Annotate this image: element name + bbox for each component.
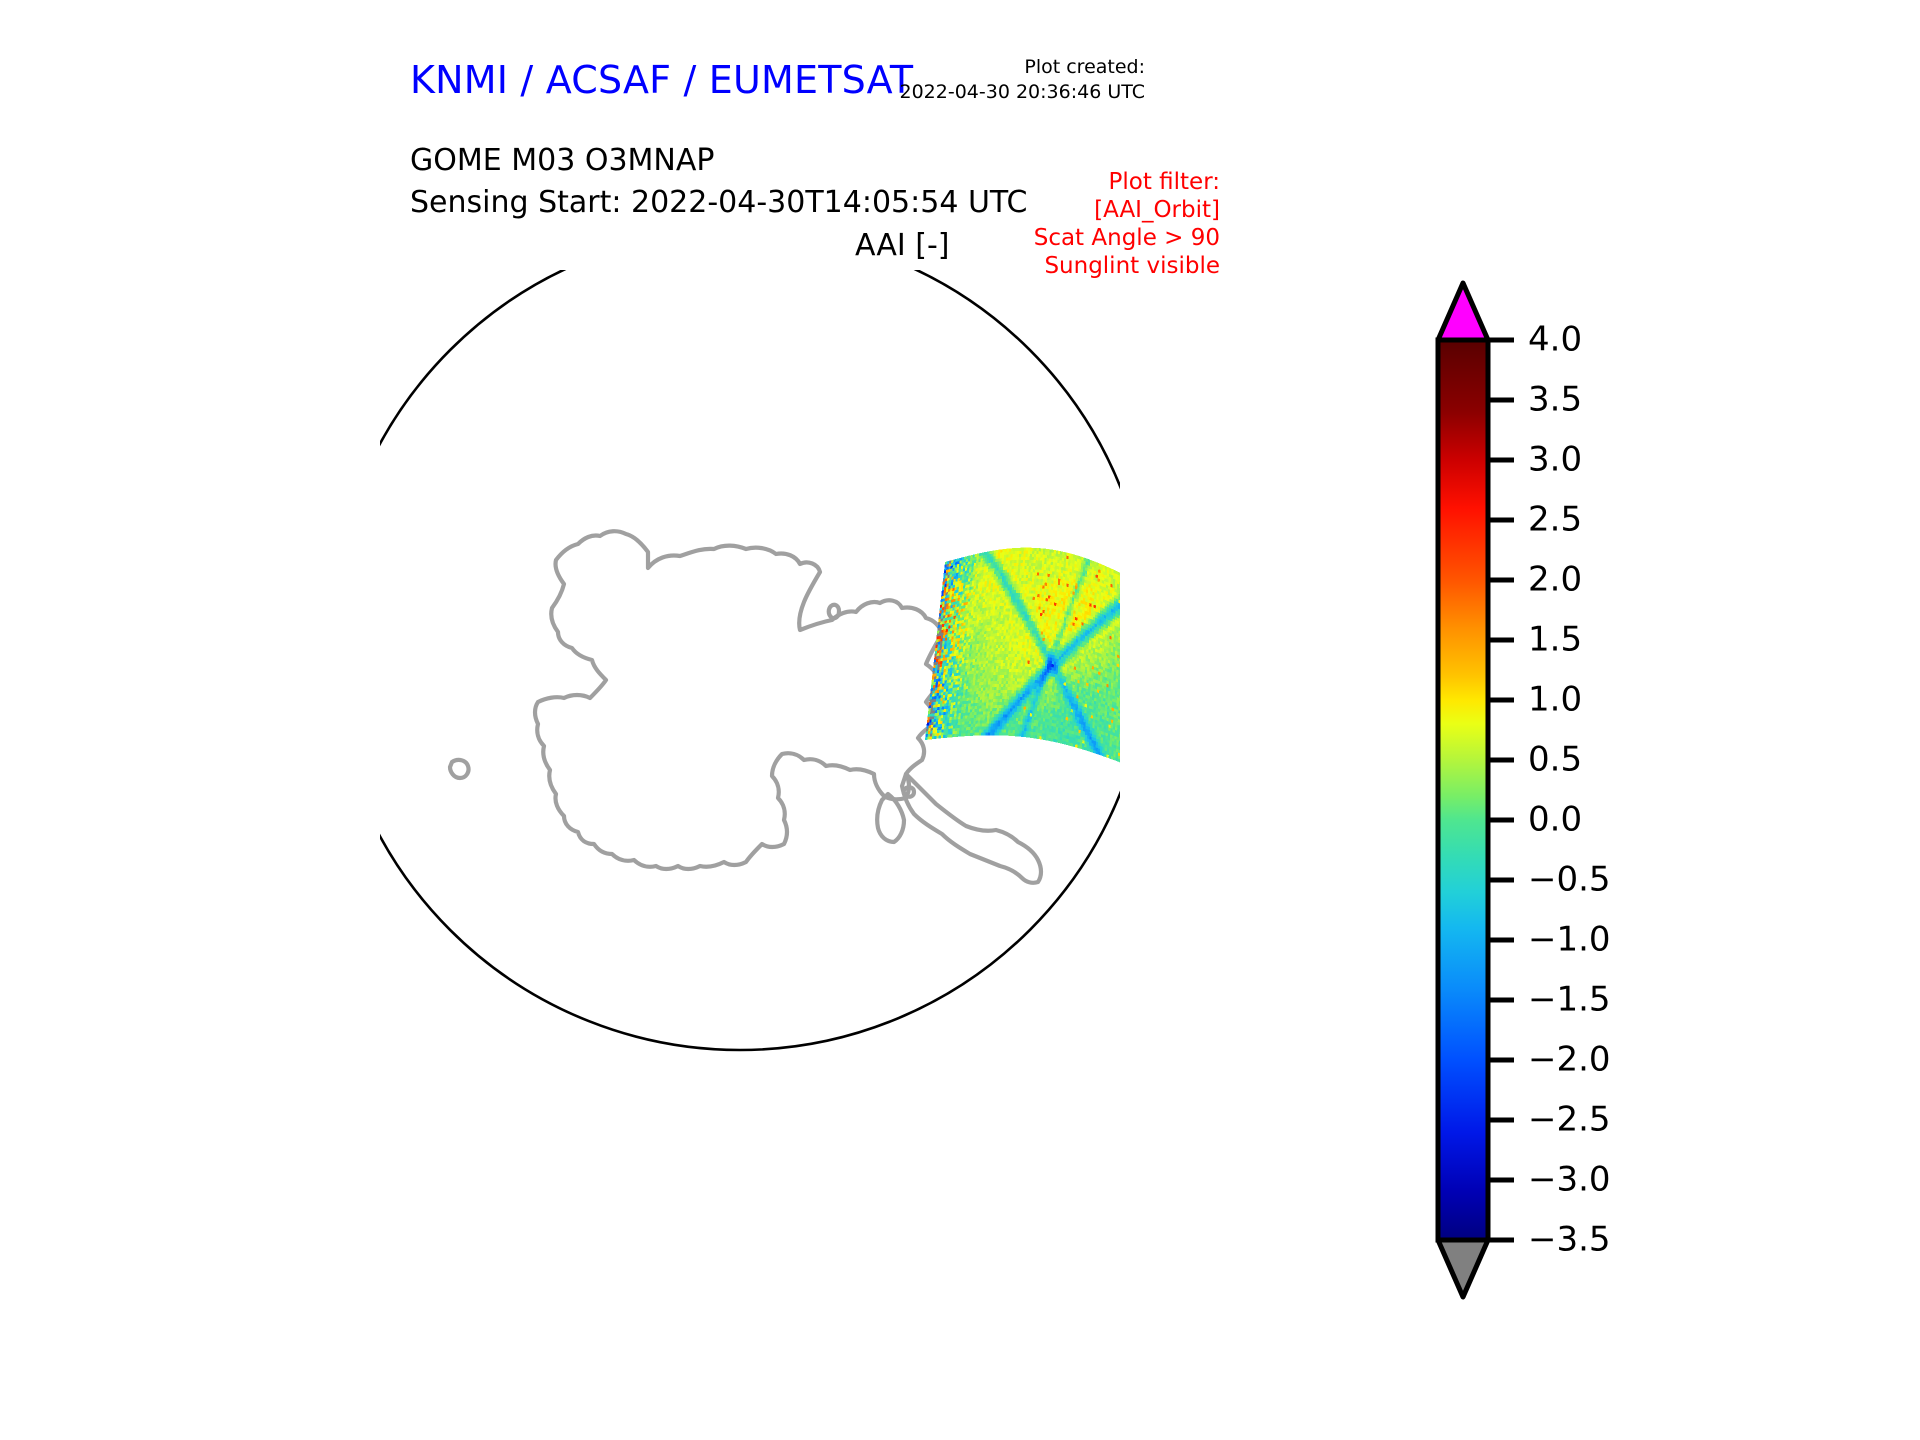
sensing-start: Sensing Start: 2022-04-30T14:05:54 UTC — [410, 182, 1027, 224]
colorbar-ticks-group: 4.03.53.02.52.01.51.00.50.0−0.5−1.0−1.5−… — [1488, 320, 1611, 1260]
colorbar-tick-label: 1.0 — [1528, 680, 1582, 720]
colorbar-tick-label: −1.0 — [1528, 920, 1611, 960]
colorbar-tick-label: 3.5 — [1528, 380, 1582, 420]
plot-created-block: Plot created: 2022-04-30 20:36:46 UTC — [900, 55, 1146, 105]
plot-filter-name: [AAI_Orbit] — [1034, 196, 1220, 224]
colorbar-panel[interactable]: 4.03.53.02.52.01.51.00.50.0−0.5−1.0−1.5−… — [1430, 275, 1860, 1345]
coastline-tasmania — [501, 270, 550, 273]
colorbar-tick-label: 4.0 — [1528, 320, 1582, 360]
colorbar-tick-label: 1.5 — [1528, 620, 1582, 660]
colorbar-tick-label: 3.0 — [1528, 440, 1582, 480]
colorbar-svg: 4.03.53.02.52.01.51.00.50.0−0.5−1.0−1.5−… — [1430, 275, 1860, 1345]
plot-filter-label: Plot filter: — [1034, 168, 1220, 196]
map-panel[interactable] — [380, 270, 1120, 1270]
organisation-title: KNMI / ACSAF / EUMETSAT — [410, 58, 913, 102]
product-info-block: GOME M03 O3MNAP Sensing Start: 2022-04-3… — [410, 140, 1027, 224]
colorbar-tick-label: 2.5 — [1528, 500, 1582, 540]
colorbar-gradient-bar — [1438, 340, 1488, 1240]
colorbar-tick-label: −1.5 — [1528, 980, 1611, 1020]
colorbar-tick-label: −3.0 — [1528, 1160, 1611, 1200]
plot-created-label: Plot created: — [900, 55, 1146, 80]
quantity-title: AAI [-] — [855, 228, 950, 263]
colorbar-tick-label: −3.5 — [1528, 1220, 1611, 1260]
plot-created-timestamp: 2022-04-30 20:36:46 UTC — [900, 80, 1146, 105]
colorbar-under-arrow — [1438, 1240, 1488, 1297]
plot-filter-block: Plot filter: [AAI_Orbit] Scat Angle > 90… — [1034, 168, 1220, 280]
polar-map-svg — [380, 270, 1120, 1270]
colorbar-tick-label: −2.0 — [1528, 1040, 1611, 1080]
plot-canvas: KNMI / ACSAF / EUMETSAT Plot created: 20… — [0, 0, 1920, 1440]
data-swath — [925, 548, 1120, 770]
colorbar-tick-label: −2.5 — [1528, 1100, 1611, 1140]
colorbar-tick-label: −0.5 — [1528, 860, 1611, 900]
colorbar-tick-label: 0.0 — [1528, 800, 1582, 840]
colorbar-tick-label: 2.0 — [1528, 560, 1582, 600]
plot-filter-scat: Scat Angle > 90 — [1034, 224, 1220, 252]
colorbar-over-arrow — [1438, 283, 1488, 340]
colorbar-tick-label: 0.5 — [1528, 740, 1582, 780]
product-name: GOME M03 O3MNAP — [410, 140, 1027, 182]
